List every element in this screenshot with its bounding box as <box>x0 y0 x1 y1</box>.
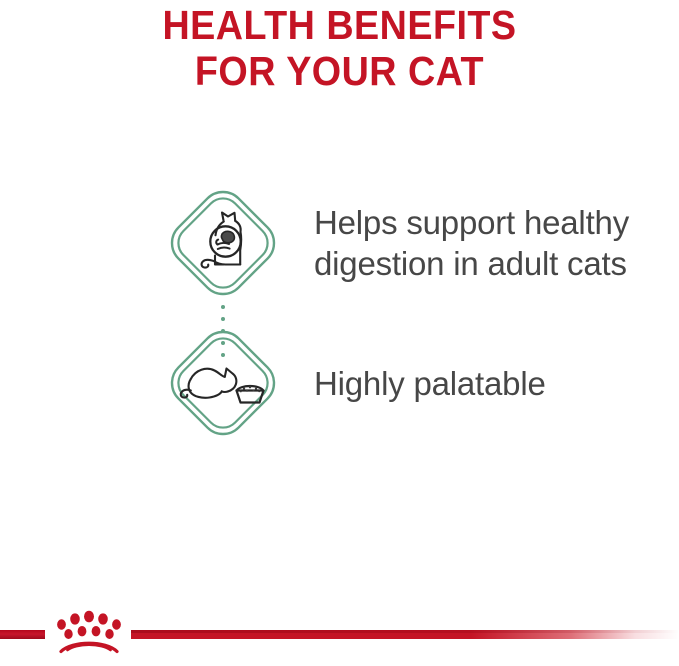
benefit-icon-slot <box>153 178 293 308</box>
footer-brand-bar <box>0 592 679 666</box>
connector-dot <box>221 341 225 345</box>
brand-rule-right <box>131 630 679 639</box>
cat-digestion-icon <box>161 181 285 305</box>
page-title: HEALTH BENEFITS FOR YOUR CAT <box>0 2 679 94</box>
benefit-text-palatable: Highly palatable <box>314 363 546 404</box>
connector-dot <box>221 353 225 357</box>
title-line-1: HEALTH BENEFITS <box>27 2 652 48</box>
benefits-list: Helps support healthy digestion in adult… <box>0 163 679 443</box>
connector-dot <box>221 329 225 333</box>
brand-rule-left <box>0 630 45 639</box>
title-line-2: FOR YOUR CAT <box>27 48 652 94</box>
benefit-item-digestion: Helps support healthy digestion in adult… <box>0 163 679 323</box>
dotted-connector <box>221 305 226 357</box>
benefit-item-palatable: Highly palatable <box>0 323 679 443</box>
connector-dot <box>221 317 225 321</box>
royal-canin-crown-logo <box>46 606 132 656</box>
benefit-text-digestion: Helps support healthy digestion in adult… <box>314 202 674 284</box>
connector-dot <box>221 305 225 309</box>
